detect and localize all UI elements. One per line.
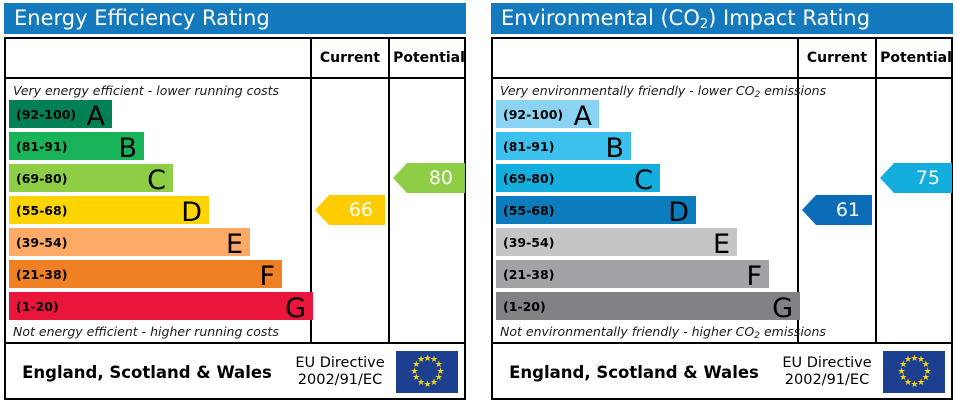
footer-country-label: England, Scotland & Wales bbox=[493, 363, 775, 382]
band-letter-label: D bbox=[668, 199, 689, 227]
band-range-label: (81-91) bbox=[9, 139, 67, 154]
chart-title: Environmental (CO2) Impact Rating bbox=[491, 3, 953, 34]
band-g: (1-20)G bbox=[496, 292, 800, 320]
column-header-current: Current bbox=[312, 39, 388, 77]
header-divider bbox=[6, 77, 464, 79]
chart-footer: England, Scotland & WalesEU Directive200… bbox=[493, 344, 951, 400]
chart-body: CurrentPotentialVery environmentally fri… bbox=[491, 37, 953, 400]
caption-bottom: Not energy efficient - higher running co… bbox=[13, 324, 309, 339]
epc-charts-container: Energy Efficiency RatingCurrentPotential… bbox=[0, 0, 957, 404]
column-header-current: Current bbox=[799, 39, 875, 77]
band-range-label: (1-20) bbox=[9, 299, 59, 314]
band-letter-label: C bbox=[634, 167, 653, 195]
potential-rating-arrow: 80 bbox=[393, 163, 465, 193]
band-range-label: (39-54) bbox=[496, 235, 554, 250]
band-b: (81-91)B bbox=[496, 132, 631, 160]
directive-line-2: 2002/91/EC bbox=[288, 372, 392, 389]
chart-footer: England, Scotland & WalesEU Directive200… bbox=[6, 344, 464, 400]
directive-line-1: EU Directive bbox=[288, 355, 392, 372]
band-c: (69-80)C bbox=[9, 164, 173, 192]
band-letter-label: G bbox=[772, 295, 793, 323]
band-range-label: (92-100) bbox=[9, 107, 76, 122]
footer-directive-label: EU Directive2002/91/EC bbox=[288, 355, 392, 389]
band-b: (81-91)B bbox=[9, 132, 144, 160]
epc-chart-environmental-impact: Environmental (CO2) Impact RatingCurrent… bbox=[487, 0, 957, 404]
band-letter-label: D bbox=[181, 199, 202, 227]
column-divider-potential bbox=[875, 39, 877, 342]
epc-chart-energy-efficiency: Energy Efficiency RatingCurrentPotential… bbox=[0, 0, 470, 404]
band-g: (1-20)G bbox=[9, 292, 313, 320]
band-letter-label: E bbox=[226, 231, 243, 259]
eu-flag: ★★★★★★★★★★★★ bbox=[396, 351, 458, 393]
band-letter-label: A bbox=[87, 103, 105, 131]
band-e: (39-54)E bbox=[496, 228, 737, 256]
caption-top: Very energy efficient - lower running co… bbox=[13, 83, 309, 98]
potential-rating-arrow: 75 bbox=[880, 163, 952, 193]
band-letter-label: G bbox=[285, 295, 306, 323]
band-range-label: (69-80) bbox=[496, 171, 554, 186]
band-range-label: (21-38) bbox=[9, 267, 67, 282]
band-letter-label: F bbox=[746, 263, 762, 291]
rating-bands: (92-100)A(81-91)B(69-80)C(55-68)D(39-54)… bbox=[9, 100, 309, 322]
directive-line-2: 2002/91/EC bbox=[775, 372, 879, 389]
directive-line-1: EU Directive bbox=[775, 355, 879, 372]
column-divider-potential bbox=[388, 39, 390, 342]
eu-flag-star: ★ bbox=[904, 357, 911, 364]
band-range-label: (55-68) bbox=[496, 203, 554, 218]
footer-country-label: England, Scotland & Wales bbox=[6, 363, 288, 382]
band-letter-label: F bbox=[259, 263, 275, 291]
rating-bands: (92-100)A(81-91)B(69-80)C(55-68)D(39-54)… bbox=[496, 100, 796, 322]
band-range-label: (81-91) bbox=[496, 139, 554, 154]
band-letter-label: C bbox=[147, 167, 166, 195]
column-header-potential: Potential bbox=[390, 39, 468, 77]
band-range-label: (21-38) bbox=[496, 267, 554, 282]
eu-flag-star: ★ bbox=[417, 357, 424, 364]
header-divider bbox=[493, 77, 951, 79]
band-d: (55-68)D bbox=[496, 196, 696, 224]
caption-bottom: Not environmentally friendly - higher CO… bbox=[500, 324, 796, 339]
band-range-label: (55-68) bbox=[9, 203, 67, 218]
current-rating-arrow: 61 bbox=[802, 195, 872, 225]
chart-body: CurrentPotentialVery energy efficient - … bbox=[4, 37, 466, 400]
band-range-label: (1-20) bbox=[496, 299, 546, 314]
footer-directive-label: EU Directive2002/91/EC bbox=[775, 355, 879, 389]
band-range-label: (69-80) bbox=[9, 171, 67, 186]
eu-flag: ★★★★★★★★★★★★ bbox=[883, 351, 945, 393]
current-rating-arrow: 66 bbox=[315, 195, 385, 225]
band-a: (92-100)A bbox=[9, 100, 112, 128]
band-letter-label: A bbox=[574, 103, 592, 131]
chart-title: Energy Efficiency Rating bbox=[4, 3, 466, 34]
band-letter-label: E bbox=[713, 231, 730, 259]
band-f: (21-38)F bbox=[496, 260, 769, 288]
band-d: (55-68)D bbox=[9, 196, 209, 224]
band-f: (21-38)F bbox=[9, 260, 282, 288]
band-a: (92-100)A bbox=[496, 100, 599, 128]
caption-top: Very environmentally friendly - lower CO… bbox=[500, 83, 796, 98]
band-range-label: (39-54) bbox=[9, 235, 67, 250]
band-letter-label: B bbox=[605, 135, 624, 163]
band-e: (39-54)E bbox=[9, 228, 250, 256]
band-c: (69-80)C bbox=[496, 164, 660, 192]
band-letter-label: B bbox=[118, 135, 137, 163]
column-header-potential: Potential bbox=[877, 39, 955, 77]
band-range-label: (92-100) bbox=[496, 107, 563, 122]
